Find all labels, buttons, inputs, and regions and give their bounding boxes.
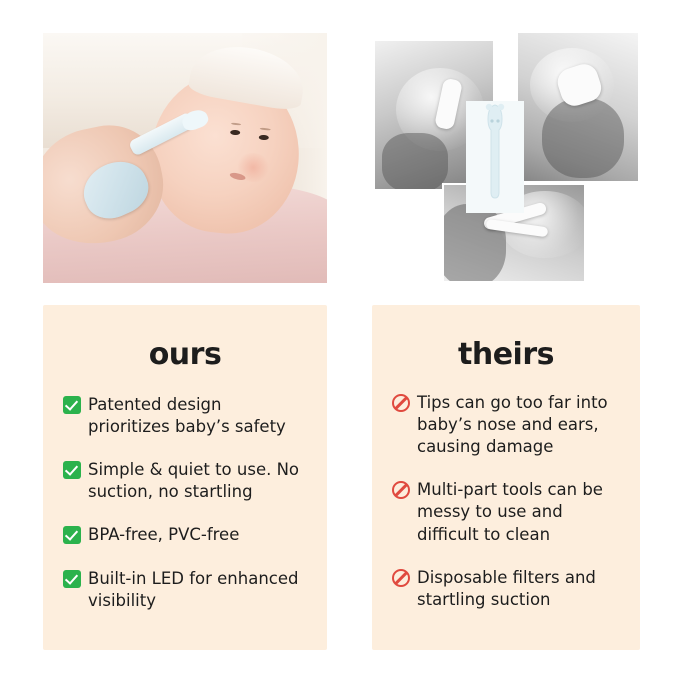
baby-eye-left <box>230 130 241 136</box>
list-item: BPA-free, PVC-free <box>63 524 307 546</box>
hero-photo <box>43 33 327 283</box>
list-item: Patented design prioritizes baby’s safet… <box>63 394 307 438</box>
list-item: Built-in LED for enhanced visibility <box>63 568 307 612</box>
check-icon <box>63 461 81 479</box>
ours-item-text: BPA-free, PVC-free <box>88 524 239 546</box>
ours-card: ours Patented design prioritizes baby’s … <box>43 305 327 650</box>
baby-eye-right <box>259 135 270 141</box>
giraffe-tool-icon <box>464 91 526 219</box>
ours-item-text: Simple & quiet to use. No suction, no st… <box>88 459 307 503</box>
competitor-collage <box>372 33 640 283</box>
check-icon <box>63 570 81 588</box>
theirs-item-text: Tips can go too far into baby’s nose and… <box>417 392 620 458</box>
check-icon <box>63 396 81 414</box>
list-item: Multi-part tools can be messy to use and… <box>392 479 620 545</box>
prohibited-icon <box>392 481 410 499</box>
tile-1-shadow <box>382 133 448 189</box>
prohibited-icon <box>392 569 410 587</box>
prohibited-icon <box>392 394 410 412</box>
theirs-item-text: Multi-part tools can be messy to use and… <box>417 479 620 545</box>
ours-item-text: Built-in LED for enhanced visibility <box>88 568 307 612</box>
check-icon <box>63 526 81 544</box>
theirs-item-text: Disposable filters and startling suction <box>417 567 620 611</box>
tile-2-hand <box>542 98 624 178</box>
baby-eyebrow-right <box>260 128 271 131</box>
collage-tile-2 <box>518 33 638 181</box>
ours-title: ours <box>43 337 327 372</box>
list-item: Tips can go too far into baby’s nose and… <box>392 392 620 458</box>
baby-eyebrow-left <box>231 122 242 125</box>
theirs-title: theirs <box>372 337 640 372</box>
list-item: Disposable filters and startling suction <box>392 567 620 611</box>
ours-item-text: Patented design prioritizes baby’s safet… <box>88 394 307 438</box>
ours-bullet-list: Patented design prioritizes baby’s safet… <box>43 372 327 612</box>
theirs-bullet-list: Tips can go too far into baby’s nose and… <box>372 372 640 611</box>
list-item: Simple & quiet to use. No suction, no st… <box>63 459 307 503</box>
theirs-card: theirs Tips can go too far into baby’s n… <box>372 305 640 650</box>
product-comparison-infographic: ours Patented design prioritizes baby’s … <box>0 0 679 679</box>
